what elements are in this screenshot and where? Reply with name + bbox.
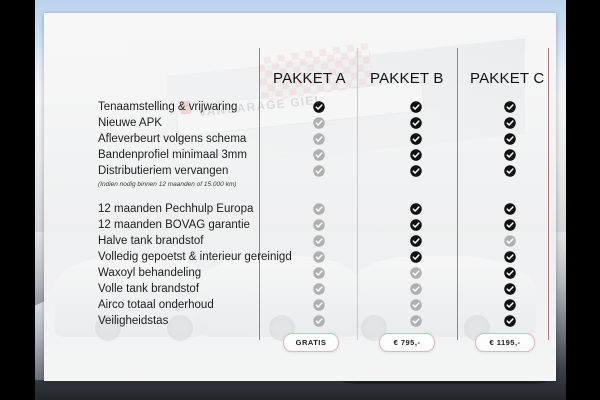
check-included-icon bbox=[406, 201, 426, 217]
check-included-icon bbox=[406, 249, 426, 265]
check-included-icon bbox=[406, 233, 426, 249]
check-spacer bbox=[309, 191, 329, 201]
feature-label: 12 maanden Pechhulp Europa bbox=[98, 201, 298, 217]
check-included-icon bbox=[500, 115, 520, 131]
check-excluded-icon bbox=[500, 233, 520, 249]
check-included-icon bbox=[500, 131, 520, 147]
feature-label: Bandenprofiel minimaal 3mm bbox=[98, 147, 298, 163]
column-divider-2 bbox=[357, 48, 358, 340]
column-divider-3 bbox=[457, 48, 458, 340]
price-button-c[interactable]: € 1195,- bbox=[475, 333, 535, 352]
pricing-card: VANGARAGE GIEL PAKKET APAKKET BPAKKET C … bbox=[44, 13, 556, 381]
check-included-icon bbox=[500, 217, 520, 233]
check-spacer bbox=[406, 191, 426, 201]
check-spacer bbox=[406, 179, 426, 191]
check-included-icon bbox=[406, 99, 426, 115]
check-excluded-icon bbox=[309, 297, 329, 313]
check-excluded-icon bbox=[309, 201, 329, 217]
feature-footnote: (Indien nodig binnen 12 maanden of 15.00… bbox=[98, 179, 298, 191]
check-spacer bbox=[309, 179, 329, 191]
feature-label: Halve tank brandstof bbox=[98, 233, 298, 249]
column-divider-4 bbox=[548, 48, 549, 340]
check-excluded-icon bbox=[309, 265, 329, 281]
feature-label: Volledig gepoetst & interieur gereinigd bbox=[98, 249, 298, 265]
feature-label: Veiligheidstas bbox=[98, 313, 298, 329]
check-included-icon bbox=[500, 281, 520, 297]
check-excluded-icon bbox=[406, 313, 426, 329]
check-column-c bbox=[500, 99, 520, 329]
check-excluded-icon bbox=[309, 313, 329, 329]
screenshot-root: VANGARAGE GIEL PAKKET APAKKET BPAKKET C … bbox=[0, 0, 600, 400]
check-included-icon bbox=[500, 99, 520, 115]
check-included-icon bbox=[406, 217, 426, 233]
feature-label: 12 maanden BOVAG garantie bbox=[98, 217, 298, 233]
feature-label: Distributieriem vervangen bbox=[98, 163, 298, 179]
letterbox-bar-left bbox=[0, 0, 35, 400]
check-included-icon bbox=[500, 313, 520, 329]
check-excluded-icon bbox=[406, 281, 426, 297]
price-button-b[interactable]: € 795,- bbox=[379, 333, 435, 352]
check-excluded-icon bbox=[309, 217, 329, 233]
check-spacer bbox=[500, 191, 520, 201]
price-button-a[interactable]: GRATIS bbox=[283, 333, 339, 352]
feature-label: Nieuwe APK bbox=[98, 115, 298, 131]
check-excluded-icon bbox=[309, 147, 329, 163]
check-excluded-icon bbox=[309, 281, 329, 297]
check-included-icon bbox=[309, 99, 329, 115]
check-included-icon bbox=[406, 163, 426, 179]
check-excluded-icon bbox=[309, 233, 329, 249]
check-spacer bbox=[500, 179, 520, 191]
feature-label: Airco totaal onderhoud bbox=[98, 297, 298, 313]
check-included-icon bbox=[406, 115, 426, 131]
check-excluded-icon bbox=[309, 115, 329, 131]
letterbox-bar-right bbox=[566, 0, 600, 400]
check-included-icon bbox=[406, 147, 426, 163]
check-included-icon bbox=[406, 131, 426, 147]
check-excluded-icon bbox=[406, 265, 426, 281]
check-included-icon bbox=[500, 249, 520, 265]
check-excluded-icon bbox=[309, 131, 329, 147]
column-header-a: PAKKET A bbox=[273, 70, 346, 87]
feature-label: Waxoyl behandeling bbox=[98, 265, 298, 281]
check-excluded-icon bbox=[406, 297, 426, 313]
feature-label: Volle tank brandstof bbox=[98, 281, 298, 297]
column-header-c: PAKKET C bbox=[470, 70, 544, 87]
feature-group-gap bbox=[98, 191, 298, 201]
check-included-icon bbox=[500, 265, 520, 281]
check-column-b bbox=[406, 99, 426, 329]
check-excluded-icon bbox=[309, 249, 329, 265]
feature-label: Tenaamstelling & vrijwaring bbox=[98, 99, 298, 115]
check-included-icon bbox=[500, 163, 520, 179]
check-column-a bbox=[309, 99, 329, 329]
check-included-icon bbox=[500, 297, 520, 313]
check-included-icon bbox=[500, 201, 520, 217]
column-header-b: PAKKET B bbox=[370, 70, 444, 87]
check-included-icon bbox=[500, 147, 520, 163]
feature-label: Afleverbeurt volgens schema bbox=[98, 131, 298, 147]
feature-label-list: Tenaamstelling & vrijwaringNieuwe APKAfl… bbox=[98, 99, 298, 329]
check-excluded-icon bbox=[309, 163, 329, 179]
